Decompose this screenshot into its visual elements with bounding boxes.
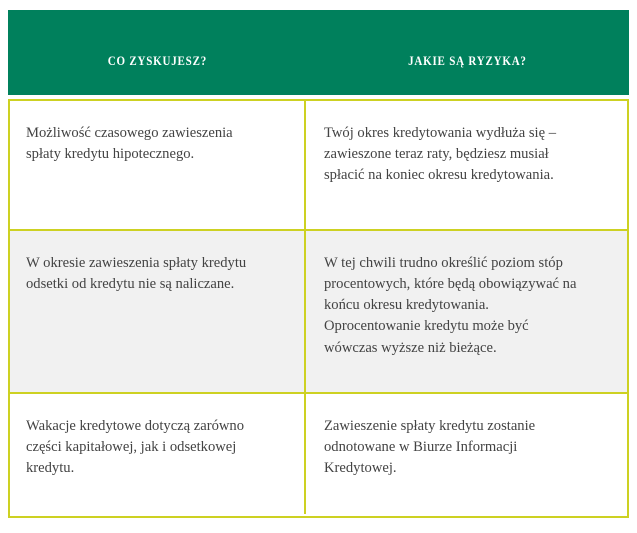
table-cell-risk: W tej chwili trudno określić poziom stóp… (306, 231, 627, 392)
table-row: Wakacje kredytowe dotyczą zarówno części… (10, 394, 627, 514)
risk-text: Twój okres kredytowania wydłuża się – za… (324, 123, 611, 186)
column-header-risks-label: JAKIE SĄ RYZYKA? (408, 55, 527, 68)
table-cell-benefit: W okresie zawieszenia spłaty kredytu ods… (10, 231, 306, 392)
risk-text: W tej chwili trudno określić poziom stóp… (324, 253, 611, 359)
risk-text: Zawieszenie spłaty kredytu zostanie odno… (324, 416, 611, 479)
table-cell-benefit: Możliwość czasowego zawieszenia spłaty k… (10, 101, 306, 229)
table-cell-risk: Zawieszenie spłaty kredytu zostanie odno… (306, 394, 627, 514)
table-cell-benefit: Wakacje kredytowe dotyczą zarówno części… (10, 394, 306, 514)
table-cell-risk: Twój okres kredytowania wydłuża się – za… (306, 101, 627, 229)
benefit-text: Wakacje kredytowe dotyczą zarówno części… (26, 416, 280, 479)
table-header-cell-risks: JAKIE SĄ RYZYKA? (306, 10, 629, 95)
column-header-benefits-label: CO ZYSKUJESZ? (107, 55, 206, 68)
table-header-cell-benefits: CO ZYSKUJESZ? (8, 10, 306, 95)
table-row: W okresie zawieszenia spłaty kredytu ods… (10, 229, 627, 394)
benefit-text: Możliwość czasowego zawieszenia spłaty k… (26, 123, 280, 165)
benefit-text: W okresie zawieszenia spłaty kredytu ods… (26, 253, 280, 295)
table-header-band: CO ZYSKUJESZ? JAKIE SĄ RYZYKA? (8, 10, 629, 95)
table-body: Możliwość czasowego zawieszenia spłaty k… (8, 99, 629, 518)
comparison-table-page: CO ZYSKUJESZ? JAKIE SĄ RYZYKA? Możliwość… (0, 0, 637, 533)
table-row: Możliwość czasowego zawieszenia spłaty k… (10, 101, 627, 229)
